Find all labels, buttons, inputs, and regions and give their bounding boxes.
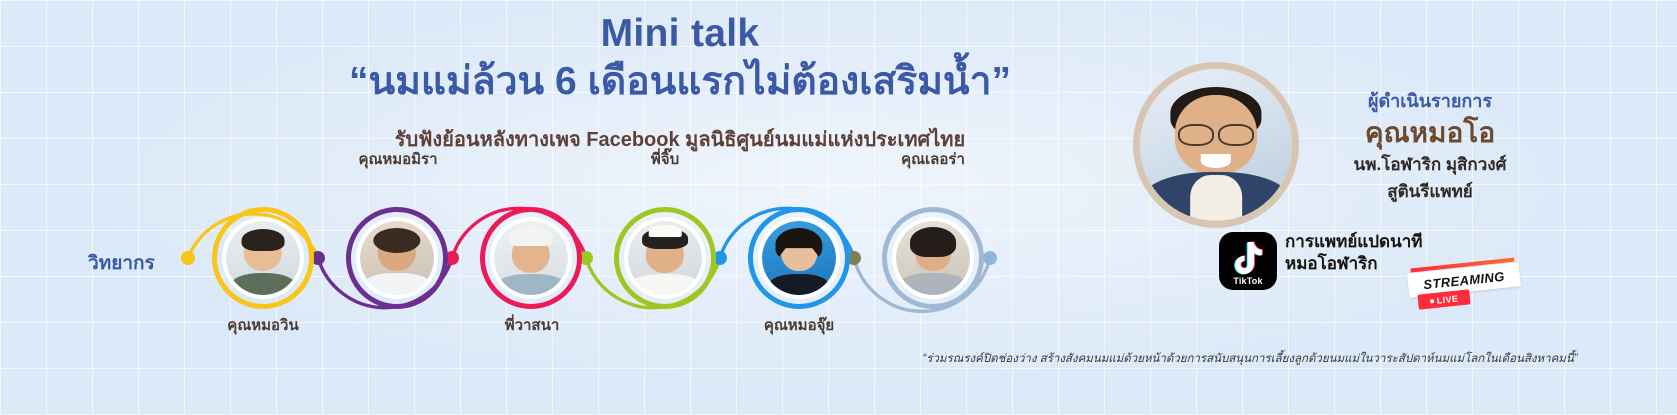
speaker-avatar-6[interactable] <box>892 217 974 299</box>
live-dot-icon <box>1430 299 1434 303</box>
host-avatar[interactable] <box>1133 62 1299 228</box>
host-name: คุณหมอโอ <box>1300 115 1560 150</box>
channel-line-2: หมอโอฬาริก <box>1285 253 1422 275</box>
tiktok-wordmark: TikTok <box>1219 276 1277 286</box>
speaker-label-6: คุณเลอร่า <box>848 147 1018 171</box>
host-credentials-line1: นพ.โอฬาริก มุสิกวงศ์ <box>1300 154 1560 176</box>
host-photo <box>1140 69 1292 221</box>
promo-banner: Mini talk “นมแม่ล้วน 6 เดือนแรกไม่ต้องเส… <box>0 0 1677 415</box>
host-smile <box>1201 154 1231 168</box>
tiktok-icon[interactable]: TikTok <box>1219 232 1277 290</box>
speaker-label-5: คุณหมอจุ๊ย <box>714 313 884 337</box>
speaker-avatar-3[interactable] <box>490 217 572 299</box>
host-info: ผู้ดำเนินรายการ คุณหมอโอ นพ.โอฬาริก มุสิ… <box>1300 90 1560 203</box>
host-shirt <box>1190 175 1242 221</box>
headline-block: Mini talk “นมแม่ล้วน 6 เดือนแรกไม่ต้องเส… <box>300 14 1060 155</box>
host-credentials-line2: สูตินรีแพทย์ <box>1300 181 1560 203</box>
glasses-icon <box>1178 124 1254 142</box>
host-role: ผู้ดำเนินรายการ <box>1300 90 1560 113</box>
speaker-label-4: พี่จิ๊บ <box>580 147 750 171</box>
speaker-avatar-4[interactable] <box>624 217 706 299</box>
channel-name: การแพทย์แปดนาที หมอโอฬาริก <box>1285 231 1422 275</box>
speaker-avatar-1[interactable] <box>222 217 304 299</box>
disclaimer-text: “ร่วมรณรงค์ปิดช่องว่าง สร้างสังคมนมแม่ด้… <box>840 350 1660 368</box>
headline-quote: “นมแม่ล้วน 6 เดือนแรกไม่ต้องเสริมน้ำ” <box>300 59 1060 105</box>
speaker-avatar-5[interactable] <box>758 217 840 299</box>
streaming-label: STREAMING <box>1423 268 1506 291</box>
speaker-label-3: พี่วาสนา <box>442 313 622 337</box>
speaker-label-2: คุณหมอมิรา <box>308 147 488 171</box>
live-label: LIVE <box>1436 293 1459 305</box>
speaker-avatar-2[interactable] <box>356 217 438 299</box>
speaker-chain: คุณหมอวิน คุณหมอมิรา พี่วาสนา <box>0 175 1060 350</box>
channel-line-1: การแพทย์แปดนาที <box>1285 231 1422 253</box>
page-title: Mini talk <box>300 14 1060 55</box>
speaker-label-1: คุณหมอวิน <box>183 313 343 337</box>
